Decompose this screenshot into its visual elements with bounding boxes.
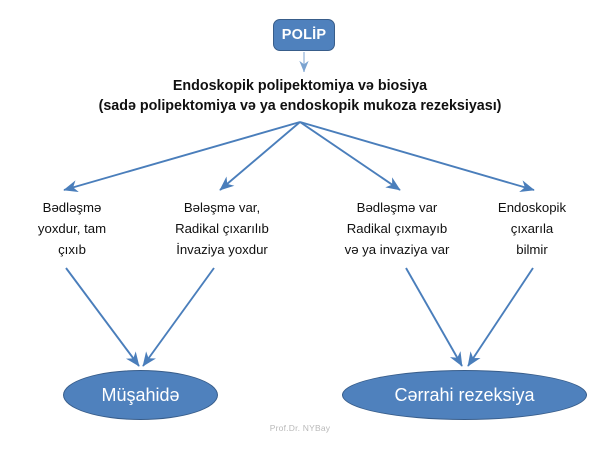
procedure-heading-line-2: (sadə polipektomiya və ya endoskopik muk… [50, 96, 550, 116]
arrow-procedure-to-branch-3 [300, 122, 400, 190]
branch-line: Bədləşmə [10, 197, 134, 218]
procedure-heading: Endoskopik polipektomiya və biosiya (sad… [50, 76, 550, 116]
branch-line: Bədləşmə var [322, 197, 472, 218]
node-outcome-observation[interactable]: Müşahidə [63, 370, 218, 420]
branch-line: bilmir [472, 239, 592, 260]
author-credit: Prof.Dr. NYBay [0, 423, 600, 433]
branch-line: və ya invaziya var [322, 239, 472, 260]
arrow-procedure-to-branch-2 [220, 122, 300, 190]
branch-line: İnvaziya yoxdur [152, 239, 292, 260]
arrow-branch-4-to-surgery [468, 268, 533, 366]
branch-no-malignancy: Bədləşmə yoxdur, tam çıxıb [10, 197, 134, 260]
branch-malignancy-radical-no-invasion: Bələşmə var, Radikal çıxarılıb İnvaziya … [152, 197, 292, 260]
arrow-branch-3-to-surgery [406, 268, 462, 366]
arrow-procedure-to-branch-1 [64, 122, 300, 190]
arrow-branch-2-to-observe [143, 268, 214, 366]
node-outcome-surgical-resection-label: Cərrahi rezeksiya [394, 386, 534, 404]
arrow-procedure-to-branch-4 [300, 122, 534, 190]
node-outcome-observation-label: Müşahidə [101, 386, 179, 404]
node-outcome-surgical-resection[interactable]: Cərrahi rezeksiya [342, 370, 587, 420]
branch-line: Radikal çıxarılıb [152, 218, 292, 239]
procedure-heading-line-1: Endoskopik polipektomiya və biosiya [50, 76, 550, 96]
branch-line: Endoskopik [472, 197, 592, 218]
branch-line: Bələşmə var, [152, 197, 292, 218]
node-polyp-label: POLİP [282, 28, 327, 43]
arrow-branch-1-to-observe [66, 268, 139, 366]
branch-line: Radikal çıxmayıb [322, 218, 472, 239]
branch-malignancy-nonradical-or-invasion: Bədləşmə var Radikal çıxmayıb və ya inva… [322, 197, 472, 260]
branch-line: çıxıb [10, 239, 134, 260]
branch-line: çıxarıla [472, 218, 592, 239]
flowchart-canvas: POLİP Endoskopik polipektomiya və biosiy… [0, 0, 600, 450]
node-polyp[interactable]: POLİP [273, 19, 335, 51]
branch-line: yoxdur, tam [10, 218, 134, 239]
branch-not-endoscopically-removable: Endoskopik çıxarıla bilmir [472, 197, 592, 260]
